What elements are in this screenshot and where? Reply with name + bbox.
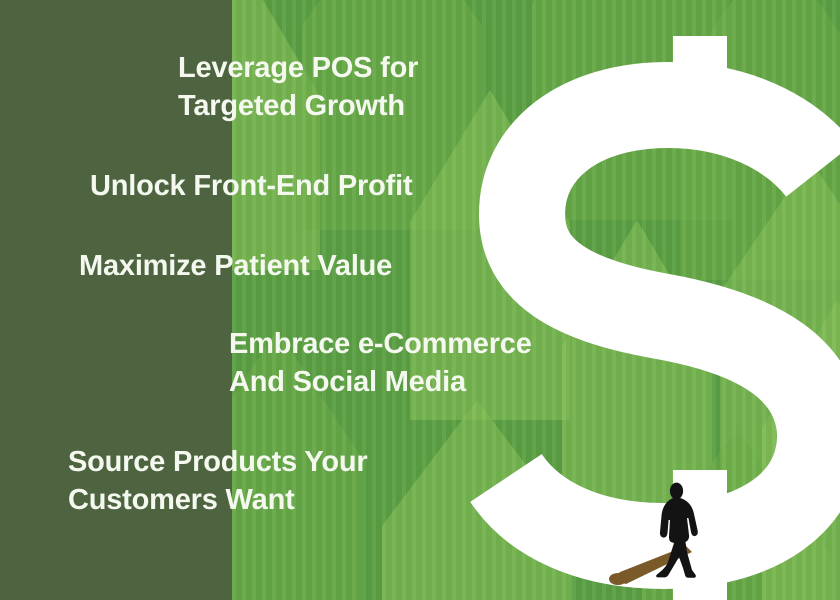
walking-person-graphic	[600, 480, 740, 600]
headline-source-products: Source Products Your Customers Want	[68, 444, 368, 519]
decorative-diamond-9	[382, 400, 572, 600]
headline-front-end-profit: Unlock Front-End Profit	[90, 168, 412, 206]
headline-ecommerce-social: Embrace e-Commerce And Social Media	[229, 326, 532, 401]
poster-canvas: Leverage POS for Targeted Growth Unlock …	[0, 0, 840, 600]
walking-person-icon	[600, 480, 740, 600]
headline-patient-value: Maximize Patient Value	[79, 248, 392, 286]
headline-leverage-pos: Leverage POS for Targeted Growth	[178, 50, 418, 125]
